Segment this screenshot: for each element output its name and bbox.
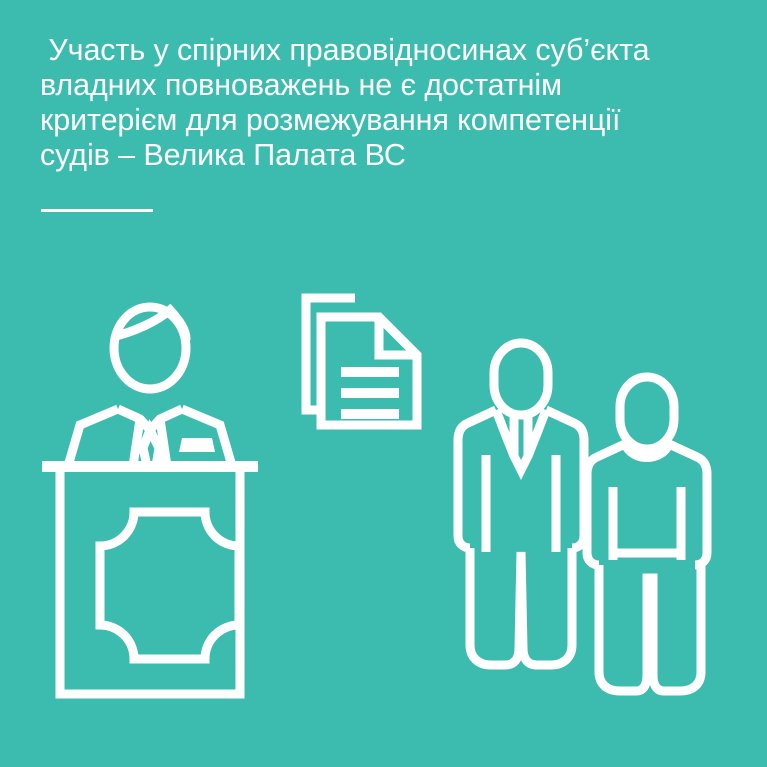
bench-decorative-frame-icon xyxy=(100,512,239,659)
judge-necktie-icon xyxy=(143,430,159,466)
lawyer-head-icon xyxy=(494,343,548,415)
judge-jacket-right-icon xyxy=(182,409,232,466)
judge-lapel-left-icon xyxy=(133,419,140,466)
judge-jacket-left-icon xyxy=(68,409,118,466)
illustration-svg xyxy=(0,0,767,767)
citizen-trousers-icon xyxy=(599,565,701,691)
lawyer-figure xyxy=(458,343,584,665)
document-text-line-icon xyxy=(341,388,399,398)
citizen-right-arm-icon xyxy=(669,444,707,565)
judge-collar-right-icon xyxy=(150,409,182,430)
lawyer-necktie-icon xyxy=(514,415,528,470)
document-text-line-icon xyxy=(341,409,399,419)
citizen-figure xyxy=(587,377,707,691)
lawyer-trousers-icon xyxy=(470,548,572,665)
judge-pocket-square-icon xyxy=(179,438,215,452)
judge-at-bench xyxy=(42,307,258,694)
bench-top-icon xyxy=(42,461,258,472)
courtroom-illustration xyxy=(0,0,767,767)
judge-collar-left-icon xyxy=(118,409,150,430)
infographic-card: Участь у спірних правовідносинах суб’єкт… xyxy=(0,0,767,767)
citizen-head-icon xyxy=(620,377,674,449)
stacked-documents xyxy=(306,298,417,425)
citizen-left-arm-icon xyxy=(587,444,625,565)
document-text-line-icon xyxy=(341,367,399,377)
